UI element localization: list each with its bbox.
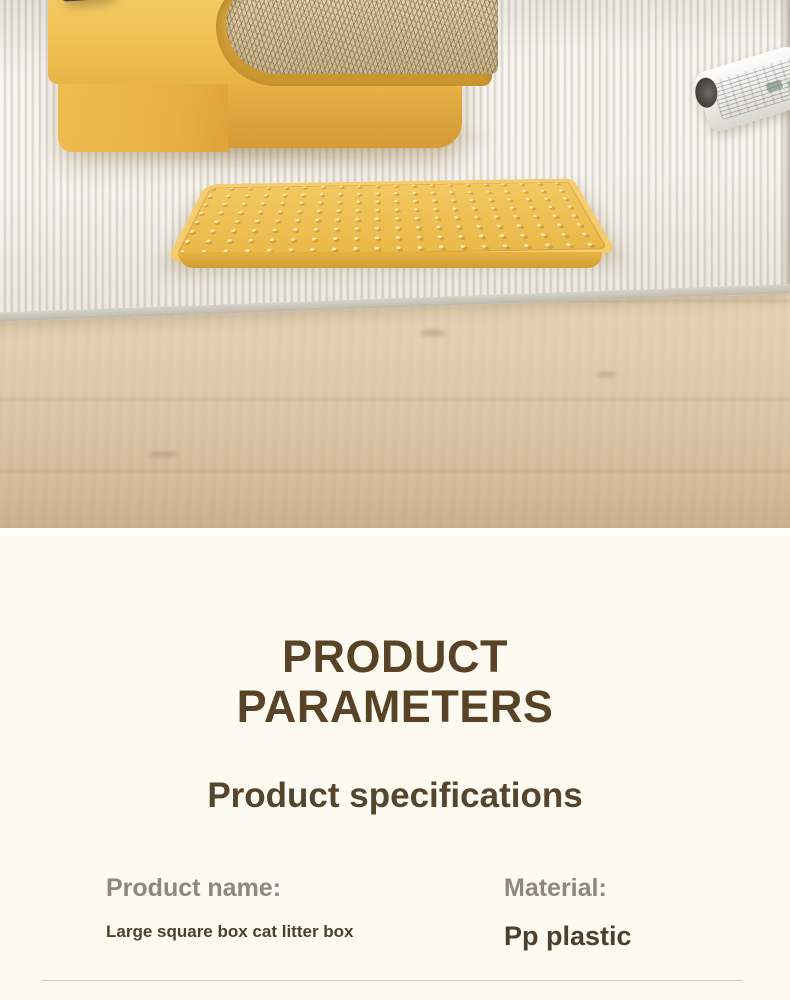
spec-cell-product-name: Product name: Large square box cat litte… xyxy=(106,876,354,940)
product-parameters-section: PRODUCT PARAMETERS Product specification… xyxy=(0,536,790,1000)
floor-plank-seam xyxy=(0,398,790,400)
step-mat-border xyxy=(166,179,618,263)
floor-plank-seam xyxy=(0,470,790,472)
product-detail-page: PRODUCT PARAMETERS Product specification… xyxy=(0,0,790,1000)
section-title-line-1: PRODUCT xyxy=(0,634,790,679)
step-mat-plate xyxy=(166,179,618,263)
wood-knot xyxy=(596,372,616,377)
spec-divider xyxy=(42,980,742,981)
wood-knot xyxy=(148,452,178,457)
spec-cell-material: Material: Pp plastic xyxy=(504,876,632,950)
spec-value-product-name: Large square box cat litter box xyxy=(106,923,354,940)
step-mat-front-lip xyxy=(178,252,602,268)
product-photo xyxy=(0,0,790,528)
section-title-line-2: PARAMETERS xyxy=(0,684,790,729)
spec-value-material: Pp plastic xyxy=(504,923,632,950)
spec-label-material: Material: xyxy=(504,876,632,901)
section-subtitle: Product specifications xyxy=(0,778,790,813)
mat-right-shadow xyxy=(780,0,790,294)
yellow-step-mat xyxy=(168,122,620,258)
wood-pellet-litter xyxy=(226,0,498,74)
spec-label-product-name: Product name: xyxy=(106,876,354,901)
wood-knot xyxy=(420,330,446,336)
spec-row: Product name: Large square box cat litte… xyxy=(0,876,790,956)
photo-bottom-gap xyxy=(0,528,790,536)
